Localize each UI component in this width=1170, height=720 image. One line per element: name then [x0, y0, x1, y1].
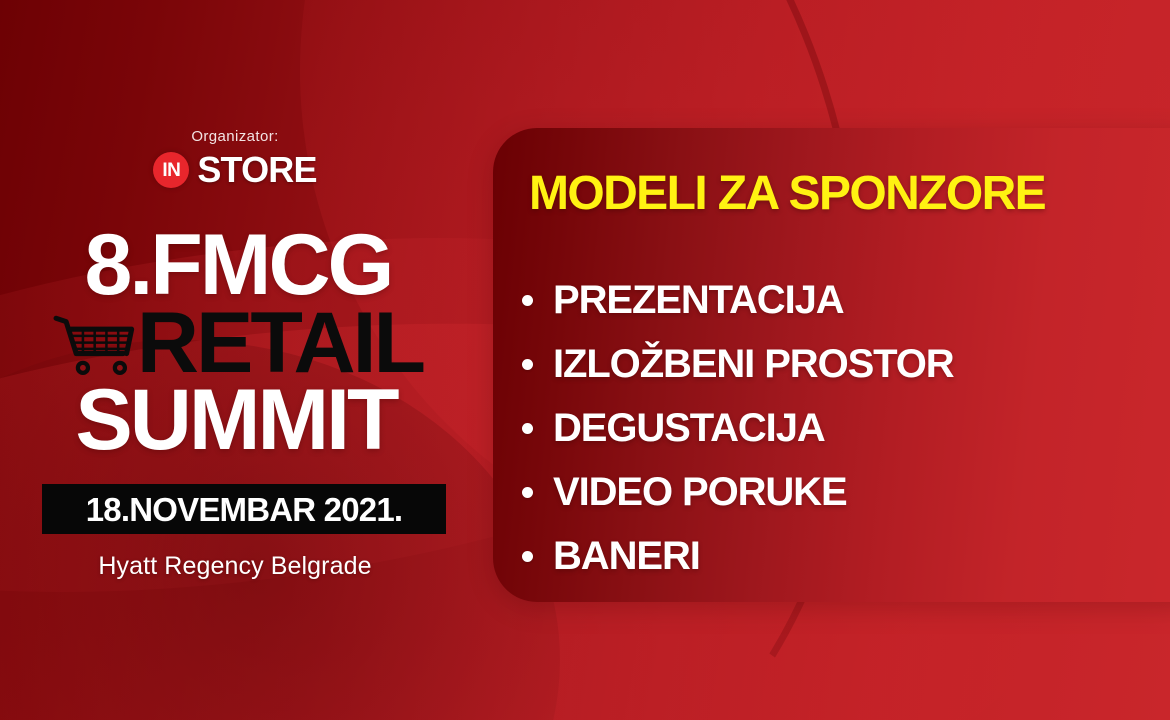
list-item: IZLOŽBENI PROSTOR [519, 332, 954, 396]
shopping-cart-icon [51, 314, 135, 378]
event-title-line-2-row: RETAIL [0, 306, 470, 382]
list-item: DEGUSTACIJA [519, 396, 954, 460]
bullet-icon [522, 423, 533, 434]
event-title-line-1: 8.FMCG [0, 228, 470, 304]
sponsor-models-list: PREZENTACIJA IZLOŽBENI PROSTOR DEGUSTACI… [519, 268, 954, 588]
sponsor-models-panel: MODELI ZA SPONZORE PREZENTACIJA IZLOŽBEN… [493, 128, 1170, 602]
event-info-column: Organizator: IN STORE 8.FMCG [0, 0, 470, 720]
event-title-line-2: RETAIL [137, 306, 423, 382]
event-title-line-3: SUMMIT [0, 383, 470, 459]
instore-logo: IN STORE [0, 152, 470, 188]
instore-logo-badge-icon: IN [153, 152, 189, 188]
list-item-label: BANERI [553, 536, 700, 576]
promo-poster: Organizator: IN STORE 8.FMCG [0, 0, 1170, 720]
list-item-label: IZLOŽBENI PROSTOR [553, 344, 954, 384]
list-item-label: VIDEO PORUKE [553, 472, 847, 512]
list-item-label: DEGUSTACIJA [553, 408, 825, 448]
event-date-banner: 18.NOVEMBAR 2021. [42, 484, 446, 534]
event-date-text: 18.NOVEMBAR 2021. [86, 493, 403, 526]
list-item-label: PREZENTACIJA [553, 280, 844, 320]
sponsor-panel-heading: MODELI ZA SPONZORE [529, 170, 1045, 218]
event-venue: Hyatt Regency Belgrade [0, 552, 470, 581]
organizer-label: Organizator: [0, 128, 470, 145]
bullet-icon [522, 487, 533, 498]
bullet-icon [522, 295, 533, 306]
instore-logo-wordmark: STORE [197, 152, 316, 188]
list-item: VIDEO PORUKE [519, 460, 954, 524]
list-item: BANERI [519, 524, 954, 588]
bullet-icon [522, 359, 533, 370]
organizer-block: Organizator: IN STORE [0, 128, 470, 188]
instore-logo-badge-text: IN [162, 161, 180, 180]
event-title-block: 8.FMCG [0, 228, 470, 459]
bullet-icon [522, 551, 533, 562]
list-item: PREZENTACIJA [519, 268, 954, 332]
